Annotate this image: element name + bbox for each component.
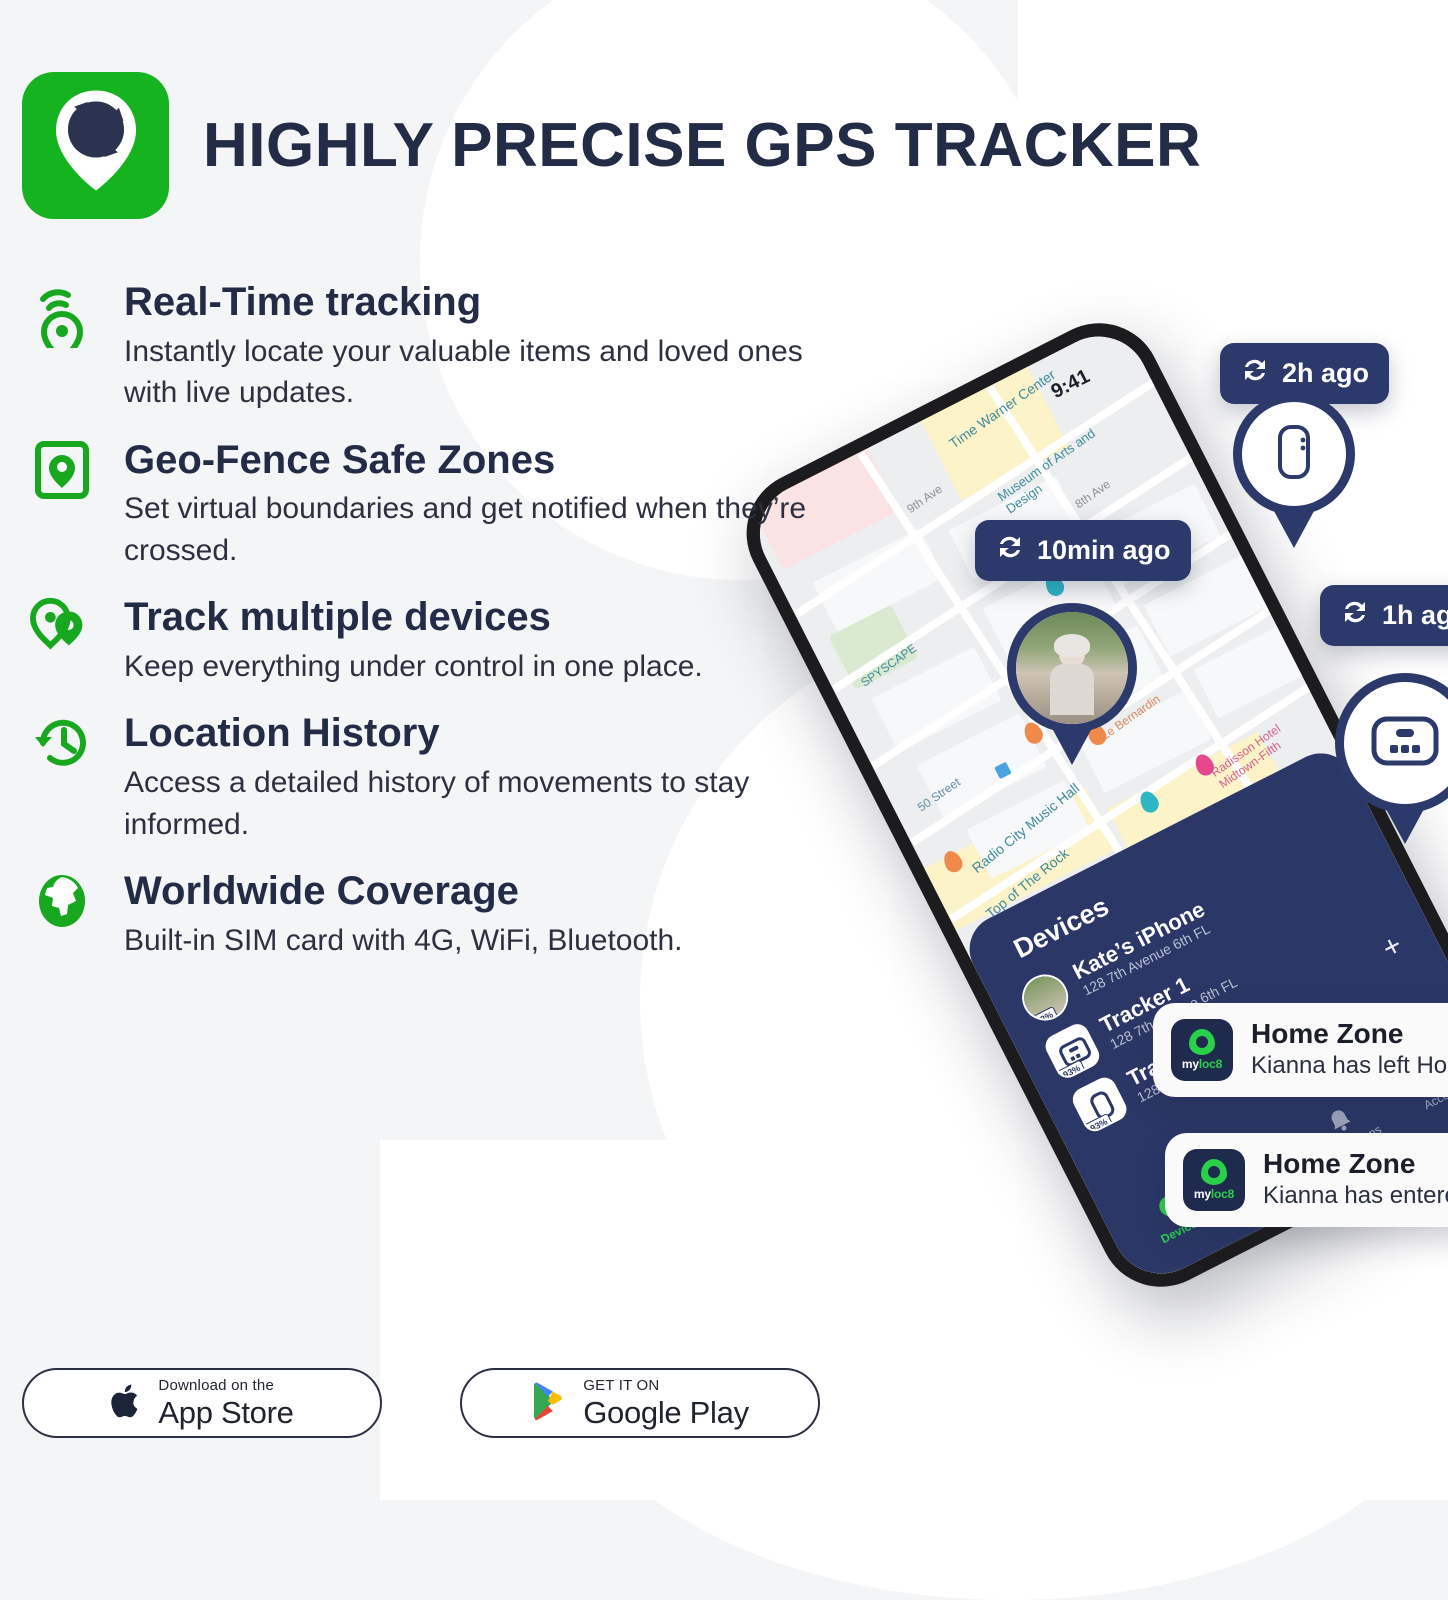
feature-item: Track multiple devices Keep everything u… — [30, 593, 860, 687]
feature-description: Set virtual boundaries and get notified … — [124, 488, 814, 571]
avatar — [1016, 612, 1128, 724]
sync-pill-label: 2h ago — [1282, 358, 1369, 389]
feature-item: Location History Access a detailed histo… — [30, 709, 860, 845]
tracker-tag-icon: 93% — [1069, 1073, 1131, 1135]
avatar: 93% — [1014, 967, 1076, 1029]
tracker-tag-pin[interactable] — [1233, 393, 1355, 515]
map-label: 9th Ave — [904, 482, 945, 516]
battery-badge: 93% — [1084, 1113, 1114, 1136]
sync-icon — [995, 532, 1025, 569]
store-badges: Download on the App Store GET IT ON Goog… — [22, 1368, 820, 1438]
brand-text: my — [1194, 1187, 1211, 1201]
notification-title: Home Zone — [1251, 1019, 1448, 1050]
clock-history-icon — [30, 709, 94, 779]
brand-accent-text: loc8 — [1199, 1057, 1222, 1071]
sync-pill-10min: 10min ago — [975, 520, 1191, 581]
page-header: HIGHLY PRECISE GPS TRACKER — [22, 72, 1201, 219]
feature-description: Keep everything under control in one pla… — [124, 646, 703, 687]
google-play-label: Google Play — [583, 1397, 749, 1428]
myloc8-app-icon: myloc8 — [1183, 1149, 1245, 1211]
tracker-device-icon: 93% — [1041, 1020, 1103, 1082]
pin-icon — [1201, 1159, 1227, 1185]
brand-text: my — [1182, 1057, 1199, 1071]
app-logo — [22, 72, 169, 219]
brand-accent-text: loc8 — [1211, 1187, 1234, 1201]
myloc8-app-icon: myloc8 — [1171, 1019, 1233, 1081]
sync-icon — [1240, 355, 1270, 392]
feature-description: Access a detailed history of movements t… — [124, 762, 814, 845]
person-photo-pin[interactable] — [1007, 603, 1137, 733]
feature-list: Real-Time tracking Instantly locate your… — [30, 278, 860, 983]
google-play-icon — [531, 1380, 569, 1427]
feature-title: Geo-Fence Safe Zones — [124, 438, 814, 483]
notification-card[interactable]: myloc8 Home Zone Kianna has entered Home — [1165, 1133, 1448, 1227]
realtime-pin-signal-icon — [30, 278, 94, 348]
feature-item: Geo-Fence Safe Zones Set virtual boundar… — [30, 436, 860, 572]
gps-pin-logo-icon — [50, 88, 142, 197]
notification-title: Home Zone — [1263, 1149, 1448, 1180]
notification-body: Kianna has left Home — [1251, 1052, 1448, 1081]
google-play-small-label: GET IT ON — [583, 1378, 749, 1393]
google-play-button[interactable]: GET IT ON Google Play — [460, 1368, 820, 1438]
sync-icon — [1340, 597, 1370, 634]
app-store-label: App Store — [158, 1397, 293, 1428]
feature-item: Worldwide Coverage Built-in SIM card wit… — [30, 867, 860, 961]
feature-title: Track multiple devices — [124, 595, 703, 640]
notification-card[interactable]: myloc8 Home Zone Kianna has left Home — [1153, 1003, 1448, 1097]
battery-badge: 93% — [1057, 1059, 1087, 1082]
feature-title: Real-Time tracking — [124, 280, 814, 325]
apple-icon — [110, 1381, 144, 1426]
app-store-small-label: Download on the — [158, 1378, 293, 1393]
feature-title: Worldwide Coverage — [124, 869, 683, 914]
tracker-device-pin[interactable] — [1335, 673, 1448, 813]
globe-icon — [30, 867, 94, 937]
page-title: HIGHLY PRECISE GPS TRACKER — [203, 110, 1201, 181]
tracker-tag-icon — [1272, 423, 1316, 486]
notification-body: Kianna has entered Home — [1263, 1182, 1448, 1211]
feature-description: Built-in SIM card with 4G, WiFi, Bluetoo… — [124, 920, 683, 961]
feature-description: Instantly locate your valuable items and… — [124, 331, 814, 414]
sync-pill-1h: 1h ago — [1320, 585, 1448, 646]
feature-title: Location History — [124, 711, 814, 756]
geofence-square-pin-icon — [30, 436, 94, 506]
app-store-button[interactable]: Download on the App Store — [22, 1368, 382, 1438]
sync-pill-label: 10min ago — [1037, 535, 1171, 566]
pin-icon — [1189, 1029, 1215, 1055]
feature-item: Real-Time tracking Instantly locate your… — [30, 278, 860, 414]
tracker-device-icon — [1370, 713, 1440, 774]
sync-pill-label: 1h ago — [1382, 600, 1448, 631]
multi-pins-icon — [30, 593, 94, 663]
